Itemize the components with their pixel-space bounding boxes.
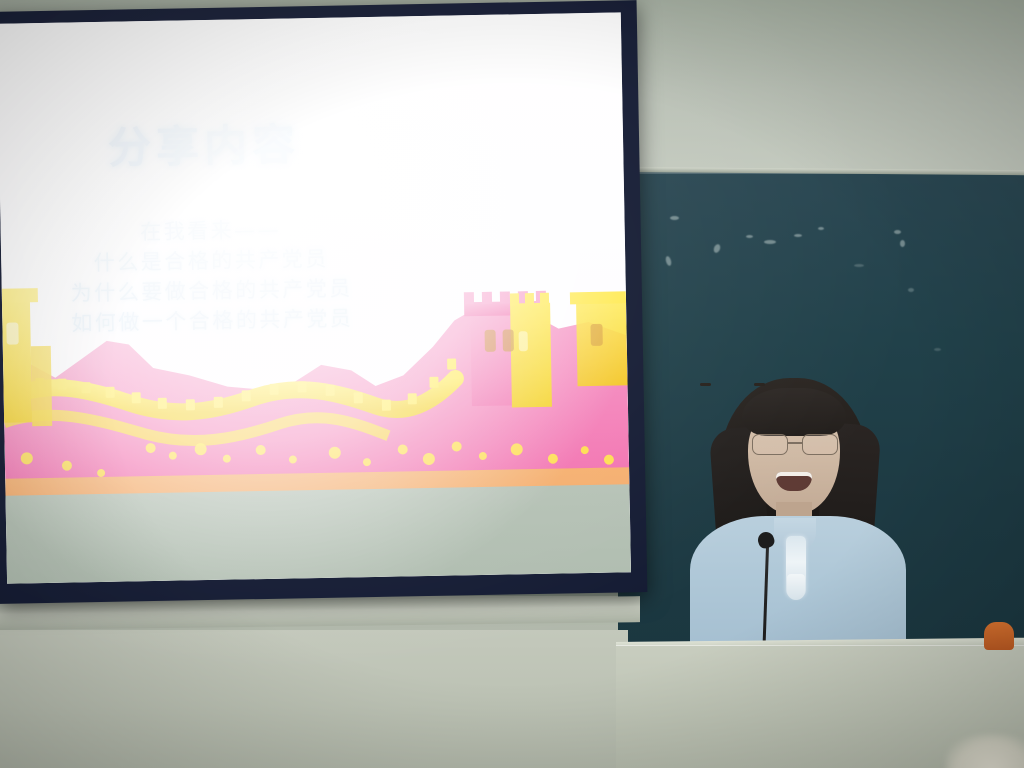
watchtower: [464, 291, 552, 409]
right-tower: [570, 291, 630, 386]
slide-title: 分享内容: [0, 108, 410, 178]
left-tower: [2, 288, 53, 427]
projection-screen-frame: 分享内容 在我看来—— 什么是合格的共产党员 为什么要做合格的共产党员 如何做一…: [0, 0, 647, 604]
great-wall-svg: [2, 271, 630, 497]
great-wall-illustration: [2, 271, 630, 497]
glasses-icon: [750, 434, 840, 454]
eye-left: [700, 383, 711, 386]
projection-screen-surface: 分享内容 在我看来—— 什么是合格的共产党员 为什么要做合格的共产党员 如何做一…: [0, 12, 631, 583]
orange-object: [984, 622, 1014, 650]
tassel-tie: [786, 536, 806, 598]
slide-footer-band: [5, 484, 631, 583]
presentation-slide: 分享内容 在我看来—— 什么是合格的共产党员 为什么要做合格的共产党员 如何做一…: [0, 12, 631, 583]
eye-right: [754, 383, 765, 386]
presenter: [688, 376, 908, 666]
hair-fringe: [742, 388, 846, 436]
classroom-scene: 分享内容 在我看来—— 什么是合格的共产党员 为什么要做合格的共产党员 如何做一…: [0, 0, 1024, 768]
wall-lower-left: [0, 630, 628, 768]
